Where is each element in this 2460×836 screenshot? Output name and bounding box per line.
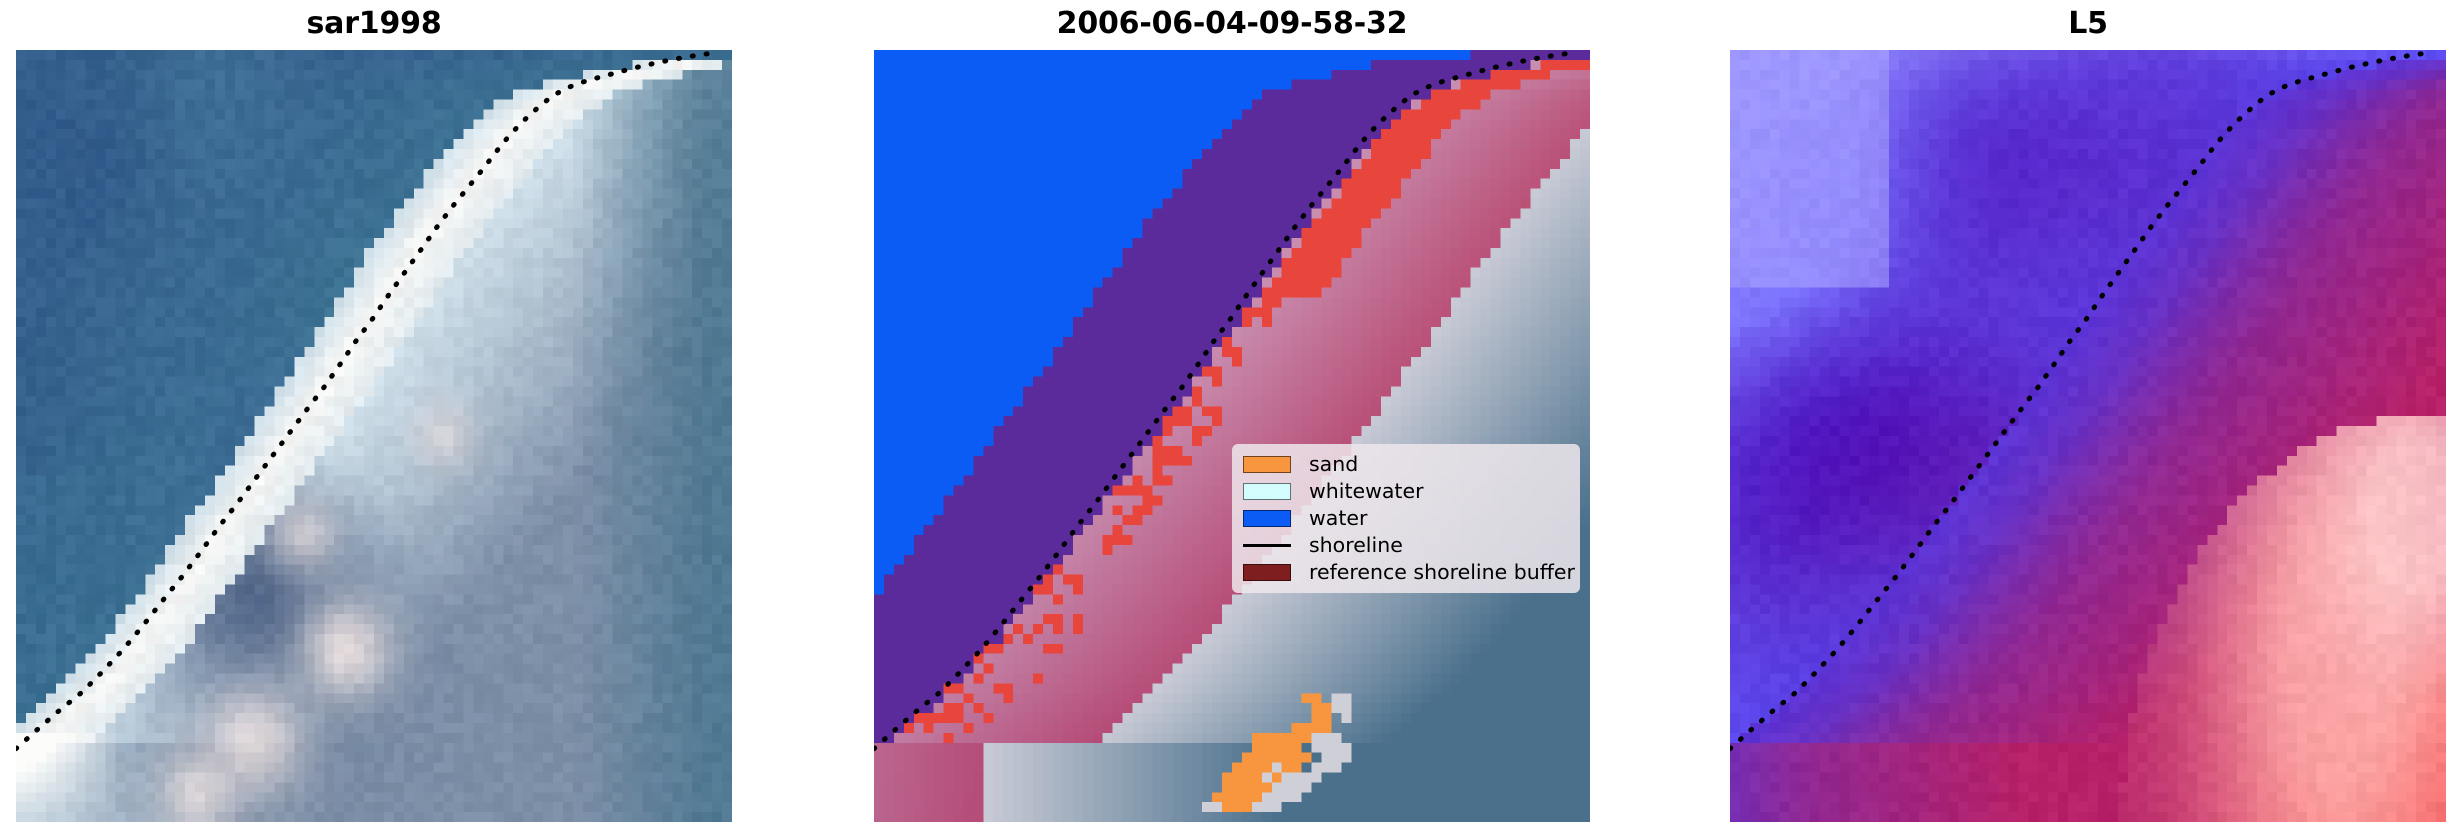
legend-swatch-whitewater-icon (1243, 483, 1291, 500)
legend-swatch-shoreline-icon (1243, 537, 1291, 554)
legend-label: whitewater (1309, 481, 1424, 502)
legend-item-whitewater[interactable]: whitewater (1243, 478, 1571, 505)
sar1998-raster-image (16, 50, 732, 822)
legend-item-reference[interactable]: reference shoreline buffer (1243, 559, 1571, 586)
legend-swatch-sand-icon (1243, 456, 1291, 473)
legend-label: water (1309, 508, 1367, 529)
legend-swatch-water-icon (1243, 510, 1291, 527)
legend-label: sand (1309, 454, 1358, 475)
panel-l5[interactable]: L5 (1730, 50, 2446, 822)
legend-item-sand[interactable]: sand (1243, 451, 1571, 478)
legend-item-water[interactable]: water (1243, 505, 1571, 532)
legend-item-shoreline[interactable]: shoreline (1243, 532, 1571, 559)
legend-box[interactable]: sandwhitewaterwatershorelinereference sh… (1232, 444, 1580, 593)
legend-swatch-reference-icon (1243, 564, 1291, 581)
panel-sar1998-title: sar1998 (16, 6, 732, 41)
panel-classification[interactable]: 2006-06-04-09-58-32 (874, 50, 1590, 822)
legend-label: reference shoreline buffer (1309, 562, 1575, 583)
figure-canvas: sar1998 2006-06-04-09-58-32 L5 sandwhite… (0, 0, 2460, 836)
classification-raster-image (874, 50, 1590, 822)
l5-raster-image (1730, 50, 2446, 822)
panel-sar1998[interactable]: sar1998 (16, 50, 732, 822)
panel-classification-title: 2006-06-04-09-58-32 (874, 6, 1590, 41)
legend-label: shoreline (1309, 535, 1403, 556)
panel-l5-title: L5 (1730, 6, 2446, 41)
